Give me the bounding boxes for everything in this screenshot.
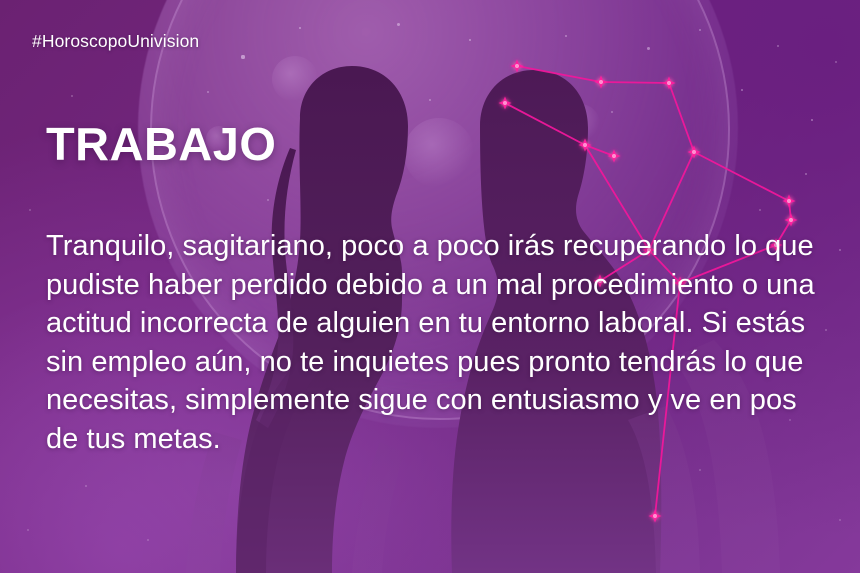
hashtag-label: #HoroscopoUnivision [32,31,199,52]
text-content: #HoroscopoUnivision TRABAJO Tranquilo, s… [0,0,860,573]
horoscope-card: #HoroscopoUnivision TRABAJO Tranquilo, s… [0,0,860,573]
page-title: TRABAJO [46,119,276,169]
horoscope-body-text: Tranquilo, sagitariano, poco a poco irás… [46,227,836,458]
